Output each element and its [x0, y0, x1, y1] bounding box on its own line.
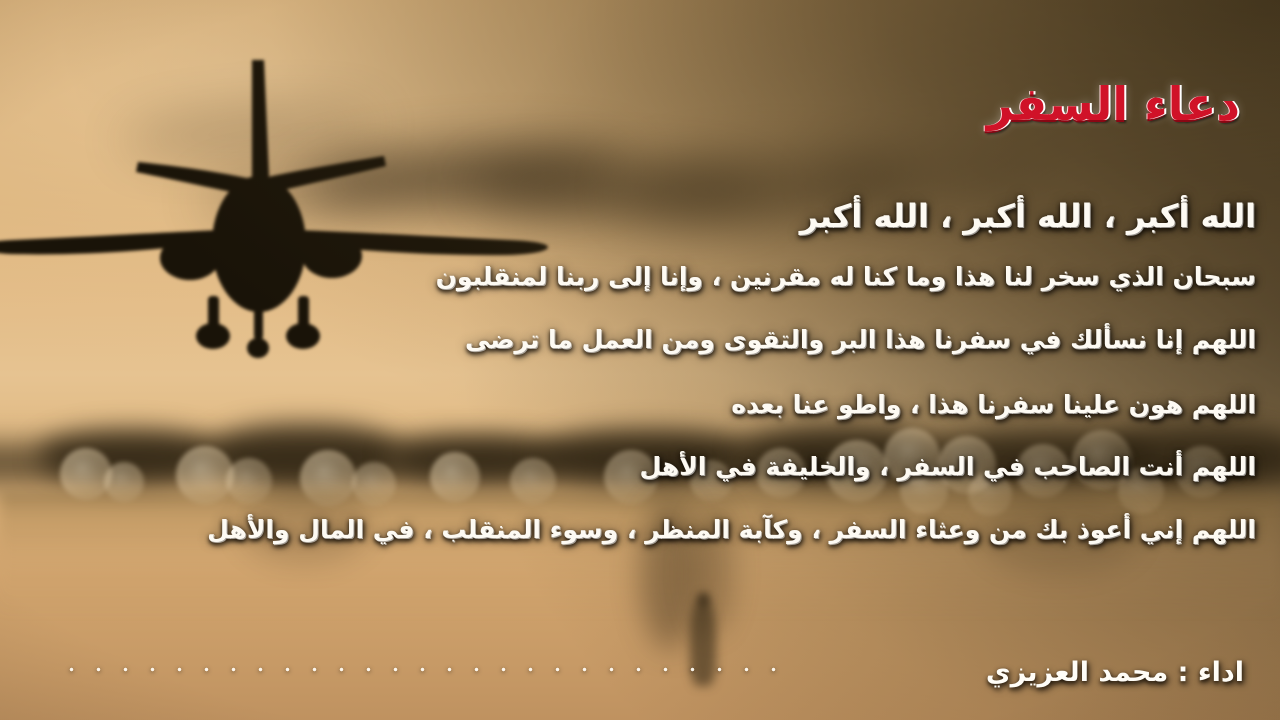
dua-line: اللهم إني أعوذ بك من وعثاء السفر ، وكآبة… [10, 517, 1256, 542]
dua-line: سبحان الذي سخر لنا هذا وما كنا له مقرنين… [10, 264, 1256, 289]
dua-text-block: الله أكبر ، الله أكبر ، الله أكبر سبحان … [10, 200, 1256, 542]
dua-line: اللهم هون علينا سفرنا هذا ، واطو عنا بعد… [10, 392, 1256, 417]
dua-line: اللهم إنا نسألك في سفرنا هذا البر والتقو… [10, 327, 1256, 352]
page-title: دعاء السفر [987, 78, 1240, 131]
video-still-canvas: دعاء السفر الله أكبر ، الله أكبر ، الله … [0, 0, 1280, 720]
performer-credit: اداء : محمد العزيزي [986, 657, 1244, 688]
dua-line: الله أكبر ، الله أكبر ، الله أكبر [10, 200, 1256, 232]
dotted-divider-icon [58, 667, 788, 672]
dua-line: اللهم أنت الصاحب في السفر ، والخليفة في … [10, 454, 1256, 479]
